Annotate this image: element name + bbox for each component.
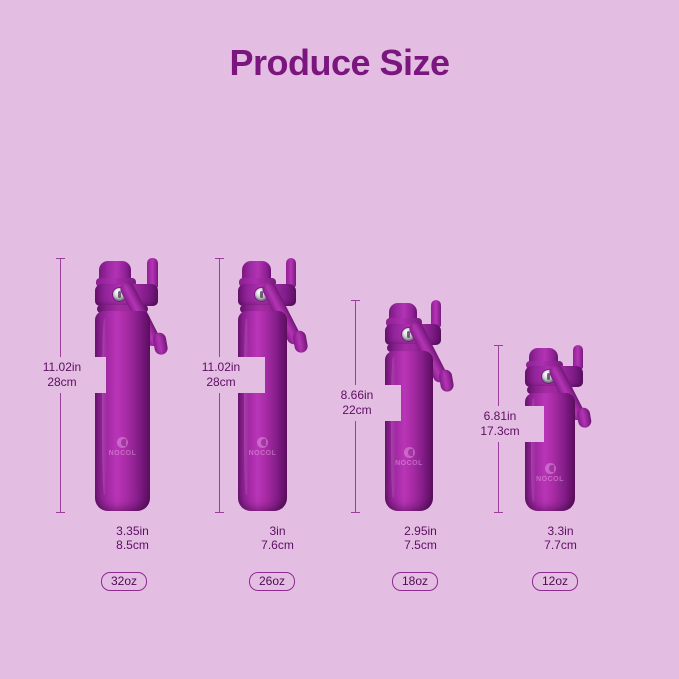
width-cm-18oz: 7.5cm bbox=[404, 538, 437, 552]
height-line-cap-bottom-26oz bbox=[215, 512, 224, 513]
width-in-26oz: 3in bbox=[269, 524, 285, 538]
height-cm-18oz: 22cm bbox=[342, 403, 371, 417]
width-cm-26oz: 7.6cm bbox=[261, 538, 294, 552]
brand-logo: NOCOL bbox=[95, 437, 150, 457]
logo-mark-icon bbox=[545, 463, 556, 474]
capacity-badge-18oz[interactable]: 18oz bbox=[392, 572, 438, 591]
logo-text: NOCOL bbox=[95, 450, 150, 457]
height-line-cap-top-26oz bbox=[215, 258, 224, 259]
logo-mark-icon bbox=[404, 447, 415, 458]
height-label-32oz: 11.02in 28cm bbox=[18, 357, 106, 393]
page-title: Produce Size bbox=[0, 42, 679, 84]
height-label-26oz: 11.02in 28cm bbox=[177, 357, 265, 393]
width-in-32oz: 3.35in bbox=[116, 524, 149, 538]
bottle-body: NOCOL bbox=[385, 351, 433, 511]
height-line-cap-top-32oz bbox=[56, 258, 65, 259]
height-line-cap-top-18oz bbox=[351, 300, 360, 301]
height-label-18oz: 8.66in 22cm bbox=[313, 385, 401, 421]
width-label-18oz: 2.95in 7.5cm bbox=[378, 524, 463, 552]
width-in-18oz: 2.95in bbox=[404, 524, 437, 538]
logo-text: NOCOL bbox=[238, 450, 287, 457]
height-in-26oz: 11.02in bbox=[202, 360, 240, 374]
height-in-12oz: 6.81in bbox=[484, 409, 517, 423]
height-line-cap-top-12oz bbox=[494, 345, 503, 346]
width-label-32oz: 3.35in 8.5cm bbox=[85, 524, 180, 552]
logo-mark-icon bbox=[117, 437, 128, 448]
height-line-cap-bottom-32oz bbox=[56, 512, 65, 513]
straw-icon bbox=[431, 300, 441, 327]
height-cm-32oz: 28cm bbox=[47, 375, 76, 389]
logo-text: NOCOL bbox=[525, 476, 575, 483]
height-in-32oz: 11.02in bbox=[43, 360, 81, 374]
capacity-badge-12oz[interactable]: 12oz bbox=[532, 572, 578, 591]
straw-icon bbox=[286, 258, 296, 287]
capacity-badge-32oz[interactable]: 32oz bbox=[101, 572, 147, 591]
product-size-chart: Produce Size NOCOL 11.02in 28cm bbox=[0, 0, 679, 679]
carry-strap-tail[interactable] bbox=[576, 407, 592, 429]
width-label-26oz: 3in 7.6cm bbox=[235, 524, 320, 552]
brand-logo: NOCOL bbox=[238, 437, 287, 457]
width-cm-32oz: 8.5cm bbox=[116, 538, 149, 552]
height-line-cap-bottom-12oz bbox=[494, 512, 503, 513]
height-cm-12oz: 17.3cm bbox=[480, 424, 519, 438]
width-cm-12oz: 7.7cm bbox=[544, 538, 577, 552]
carry-strap-tail[interactable] bbox=[152, 332, 169, 356]
height-in-18oz: 8.66in bbox=[341, 388, 374, 402]
carry-strap-tail[interactable] bbox=[438, 369, 455, 393]
bottle-body: NOCOL bbox=[238, 311, 287, 511]
brand-logo: NOCOL bbox=[525, 463, 575, 483]
width-in-12oz: 3.3in bbox=[547, 524, 573, 538]
height-label-12oz: 6.81in 17.3cm bbox=[456, 406, 544, 442]
height-cm-26oz: 28cm bbox=[206, 375, 235, 389]
logo-text: NOCOL bbox=[385, 460, 433, 467]
height-line-cap-bottom-18oz bbox=[351, 512, 360, 513]
logo-mark-icon bbox=[257, 437, 268, 448]
carry-strap-tail[interactable] bbox=[292, 330, 309, 354]
width-label-12oz: 3.3in 7.7cm bbox=[518, 524, 603, 552]
brand-logo: NOCOL bbox=[385, 447, 433, 467]
capacity-badge-26oz[interactable]: 26oz bbox=[249, 572, 295, 591]
bottle-body: NOCOL bbox=[95, 311, 150, 511]
